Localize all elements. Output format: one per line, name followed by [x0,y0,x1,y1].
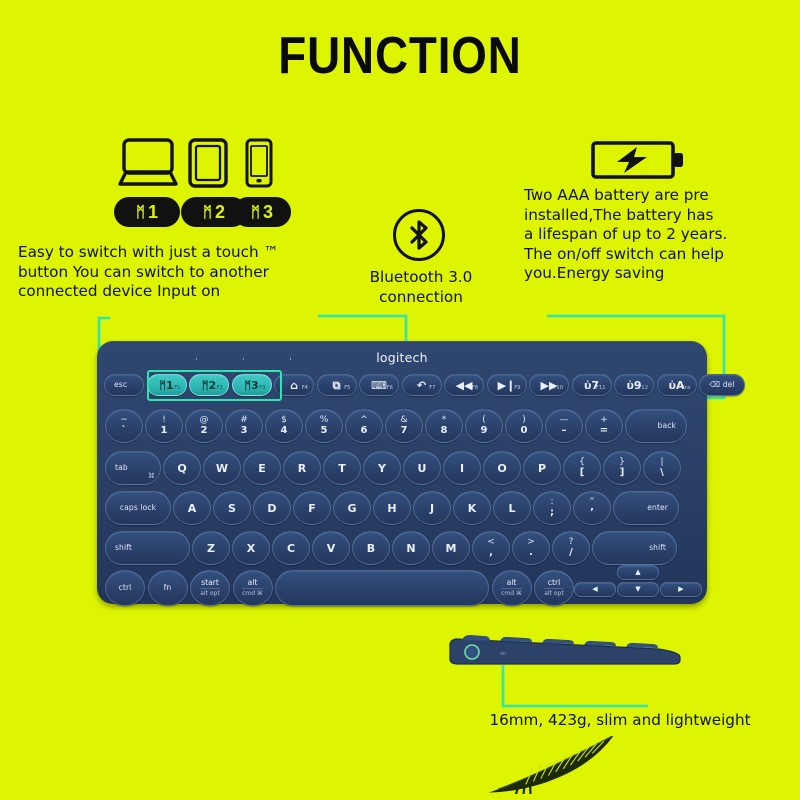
key-label: M [446,543,457,554]
key-f4-home[interactable]: ⌂F4 [274,374,314,396]
key-digit-1[interactable]: !1 [145,409,183,443]
key-label: |\ [660,458,664,478]
key-digit-8[interactable]: *8 [425,409,463,443]
key-label: ~` [120,416,128,436]
arrow-right-icon: ▶ [678,586,683,593]
key-backtick[interactable]: ~` [105,409,143,443]
key-key-e[interactable]: E [243,451,281,485]
svg-text:on: on [500,651,506,657]
key-label: ?/ [569,538,574,558]
home-row: caps lockASDFGHJKL:;”’enter [105,491,679,525]
key-key-v[interactable]: V [312,531,350,565]
key-key-g[interactable]: G [333,491,371,525]
key-label: shift [115,544,132,552]
key-f1-bluetooth-1[interactable]: ᛗ1F1 [147,374,187,396]
key-label: B [367,543,375,554]
key-label: P [538,463,546,474]
key-label: A [188,503,197,514]
key-extra-glyph: ⌘ [148,473,155,480]
key-label: !1 [161,416,168,436]
key-digit-9[interactable]: (9 [465,409,503,443]
key-label: ᛗ1 [159,380,173,391]
key-f2-bluetooth-2[interactable]: ᛗ2F2 [189,374,229,396]
feather-icon [470,736,638,794]
key-label: Q [177,463,186,474]
key-key-j[interactable]: J [413,491,451,525]
key-label: altcmd ⌘ [501,578,522,598]
key-label: :; [550,498,554,518]
key-backslash[interactable]: |\ [643,451,681,485]
key-label: @2 [200,416,209,436]
key-label: T [338,463,346,474]
key-label: $4 [281,416,288,436]
key-f6-keyboard[interactable]: ⌨F6 [359,374,399,396]
arrow-down-key[interactable]: ▼ [617,582,659,597]
key-fn-label: F4 [302,386,308,391]
key-label: X [247,543,255,554]
key-label: V [327,543,336,554]
arrow-left-key[interactable]: ◀ [574,582,616,597]
key-label: C [287,543,295,554]
key-key-t[interactable]: T [323,451,361,485]
key-key-b[interactable]: B [352,531,390,565]
key-key-z[interactable]: Z [192,531,230,565]
key-f9-play-pause[interactable]: ▶❙F9 [487,374,527,396]
key-key-c[interactable]: C [272,531,310,565]
key-key-l[interactable]: L [493,491,531,525]
key-key-r[interactable]: R [283,451,321,485]
key-label: ὐA [669,380,685,391]
key-label: G [347,503,356,514]
key-label: ⌨ [371,380,387,391]
key-bracket-left[interactable]: {[ [563,451,601,485]
key-label: startalt opt [200,578,219,598]
key-period[interactable]: >. [512,531,550,565]
key-fn-label: F8 [472,386,478,391]
key-label: ↶ [417,380,426,391]
key-key-k[interactable]: K [453,491,491,525]
key-label: W [216,463,228,474]
key-key-x[interactable]: X [232,531,270,565]
bottom-row: ctrlfnstartalt optaltcmd ⌘altcmd ⌘ctrlal… [105,570,574,606]
key-digit-3[interactable]: #3 [225,409,263,443]
key-f10-forward[interactable]: ▶▶F10 [529,374,569,396]
arrow-right-key[interactable]: ▶ [660,582,702,597]
key-label: (9 [481,416,488,436]
keyboard-top-view: logitech · · · escᛗ1F1ᛗ2F2ᛗ3F3⌂F4⧉F5⌨F6↶… [97,341,707,604]
key-fn-label: F1 [174,386,180,391]
function-row: escᛗ1F1ᛗ2F2ᛗ3F3⌂F4⧉F5⌨F6↶F7◀◀F8▶❙F9▶▶F10… [104,374,745,396]
key-label: *8 [441,416,448,436]
key-semicolon[interactable]: :; [533,491,571,525]
key-key-i[interactable]: I [443,451,481,485]
key-shift-left[interactable]: shift [105,531,190,565]
key-label: ◀◀ [456,380,473,391]
qwerty-row: tab⌘QWERTYUIOP{[}]|\ [105,451,681,485]
key-f7-back[interactable]: ↶F7 [402,374,442,396]
key-f8-rewind[interactable]: ◀◀F8 [444,374,484,396]
status-dot-3: · [289,355,292,365]
key-fn-label: F9 [514,386,520,391]
key-key-a[interactable]: A [173,491,211,525]
key-tab[interactable]: tab⌘ [105,451,161,485]
key-label: shift [649,544,666,552]
key-label: D [267,503,276,514]
key-f11-mute[interactable]: ὐ7F11 [572,374,612,396]
key-label: Y [378,463,386,474]
key-label: fn [164,584,172,592]
key-fn-label: ins [683,386,690,391]
key-ctrl-left[interactable]: ctrl [105,570,145,606]
key-label: {[ [579,458,585,478]
key-label: esc [114,381,127,389]
key-label: —– [560,416,569,436]
key-key-p[interactable]: P [523,451,561,485]
key-key-d[interactable]: D [253,491,291,525]
key-key-w[interactable]: W [203,451,241,485]
arrow-up-icon: ▲ [635,569,640,576]
key-caps-lock[interactable]: caps lock [105,491,171,525]
key-digit-4[interactable]: $4 [265,409,303,443]
key-f3-bluetooth-3[interactable]: ᛗ3F3 [232,374,272,396]
key-start[interactable]: startalt opt [190,570,230,606]
key-label: N [406,543,415,554]
key-key-q[interactable]: Q [163,451,201,485]
key-label: enter [647,504,668,512]
key-fn-label: F2 [217,386,223,391]
number-row: ~`!1@2#3$4%5^6&7*8(9)0—–+=back [105,409,687,443]
key-esc[interactable]: esc [104,374,144,396]
key-spacebar[interactable] [275,570,489,606]
key-fn-label: F7 [429,386,435,391]
key-comma[interactable]: <, [472,531,510,565]
keyboard-side-view: on [448,631,682,671]
key-label: ”’ [590,498,595,518]
key-digit-0[interactable]: )0 [505,409,543,443]
key-key-m[interactable]: M [432,531,470,565]
key-label: ᛗ3 [244,380,258,391]
key-label: O [497,463,506,474]
key-shift-right[interactable]: shift [592,531,677,565]
key-enter[interactable]: enter [613,491,679,525]
key-label: L [508,503,515,514]
infographic-canvas: FUNCTION ᛗ 1 ᛗ 2 ᛗ 3 [0,0,800,800]
key-digit-7[interactable]: &7 [385,409,423,443]
key-label: S [228,503,236,514]
weight-caption: 16mm, 423g, slim and lightweight [440,711,800,731]
shift-row: shiftZXCVBNM<,>.?/shift [105,531,677,565]
key-label: )0 [521,416,528,436]
key-label: #3 [240,416,248,436]
key-label: Z [207,543,215,554]
key-label: back [658,422,676,430]
key-label: %5 [320,416,329,436]
key-label: altcmd ⌘ [242,578,263,598]
key-key-y[interactable]: Y [363,451,401,485]
key-label: }] [619,458,625,478]
key-label: tab [115,464,128,472]
key-del[interactable]: ⌫ del [699,374,745,396]
key-volume-up[interactable]: ὐAins [657,374,697,396]
key-label: K [468,503,477,514]
logitech-logo: logitech [97,350,707,365]
status-dot-2: · [242,355,245,365]
arrow-down-icon: ▼ [635,586,640,593]
key-equals[interactable]: += [585,409,623,443]
key-f5-apps[interactable]: ⧉F5 [317,374,357,396]
key-ctrl-right[interactable]: ctrlalt opt [534,570,574,606]
key-label: ⌂ [290,380,298,391]
key-slash[interactable]: ?/ [552,531,590,565]
key-fn-label: F5 [344,386,350,391]
key-label: I [460,463,464,474]
key-label: R [298,463,306,474]
key-label: H [387,503,396,514]
key-digit-6[interactable]: ^6 [345,409,383,443]
key-fn-label: F10 [553,386,563,391]
key-label: ^6 [360,416,368,436]
arrow-up-key[interactable]: ▲ [617,565,659,580]
key-digit-2[interactable]: @2 [185,409,223,443]
key-key-s[interactable]: S [213,491,251,525]
key-minus[interactable]: —– [545,409,583,443]
key-label: F [308,503,316,514]
key-quote[interactable]: ”’ [573,491,611,525]
key-fn-label: F3 [259,386,265,391]
key-fn-label: F6 [387,386,393,391]
key-label: >. [527,538,535,558]
key-label: ⧉ [333,380,341,391]
key-label: caps lock [120,504,156,512]
key-label: E [258,463,266,474]
key-label: ᛗ2 [202,380,216,391]
key-key-n[interactable]: N [392,531,430,565]
key-label: U [418,463,427,474]
status-dot-1: · [195,355,198,365]
key-label: ▶❙ [498,380,516,391]
key-bracket-right[interactable]: }] [603,451,641,485]
key-fn-label: F11 [596,386,606,391]
key-label: <, [487,538,495,558]
key-key-f[interactable]: F [293,491,331,525]
key-label: ⌫ del [709,381,734,389]
key-label: += [600,416,608,436]
key-key-u[interactable]: U [403,451,441,485]
key-alt-left[interactable]: altcmd ⌘ [233,570,273,606]
key-label: ctrlalt opt [544,578,563,598]
key-label: J [430,503,434,514]
key-f12-volume-down[interactable]: ὐ9F12 [614,374,654,396]
key-fn[interactable]: fn [148,570,188,606]
key-digit-5[interactable]: %5 [305,409,343,443]
key-fn-label: F12 [638,386,648,391]
arrow-left-icon: ◀ [592,586,597,593]
key-key-h[interactable]: H [373,491,411,525]
key-alt-right[interactable]: altcmd ⌘ [492,570,532,606]
key-label: &7 [400,416,407,436]
key-label: ctrl [119,584,132,592]
key-backspace[interactable]: back [625,409,687,443]
key-key-o[interactable]: O [483,451,521,485]
